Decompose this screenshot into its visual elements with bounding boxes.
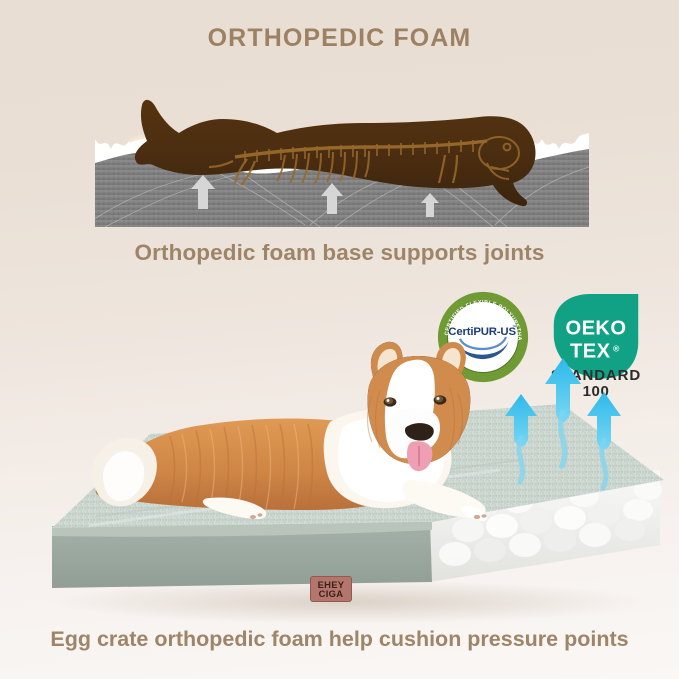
airflow-arrows <box>505 358 621 488</box>
product-infographic: ORTHOPEDIC FOAM <box>0 0 679 679</box>
dog-illustration <box>92 342 487 521</box>
brand-tag: EHEY CIGA <box>310 576 352 602</box>
certipur-trademark: ™ <box>512 325 517 330</box>
diagram-caption: Orthopedic foam base supports joints <box>0 240 679 266</box>
page-title: ORTHOPEDIC FOAM <box>0 24 679 53</box>
orthopedic-support-diagram <box>95 75 589 235</box>
brand-tag-line2: CIGA <box>319 589 344 598</box>
product-caption: Egg crate orthopedic foam help cushion p… <box>0 627 679 652</box>
